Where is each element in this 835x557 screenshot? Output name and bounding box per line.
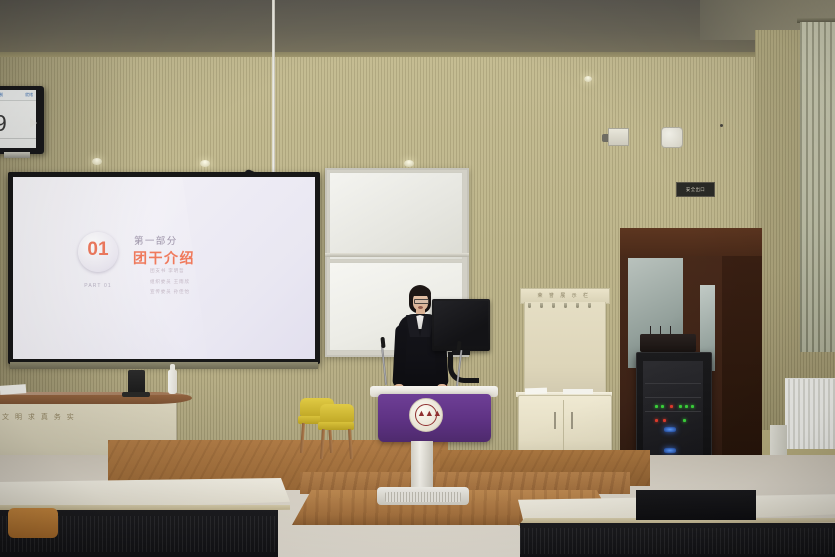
- slide-bullet: 组织委员 王雨欣: [150, 279, 190, 285]
- rack-led-green: [679, 405, 682, 408]
- rack-led-green: [661, 405, 664, 408]
- emblem-mark-icon: ▲▲▲: [417, 408, 433, 419]
- lecture-hall-photo: 01 PART 01 第一部分 团干介绍 团支书 李明哲 组织委员 王雨欣 宣传…: [0, 0, 835, 557]
- cabinet-door-seam: [563, 400, 564, 455]
- ceiling-spot-light: [584, 76, 592, 82]
- cabinet-papers: [525, 388, 547, 395]
- left-counter-top-highlight: [0, 392, 192, 395]
- podium-monitor-arm: [448, 352, 479, 383]
- counter-papers: [0, 384, 26, 395]
- slide-bullet-list: 团支书 李明哲 组织委员 王雨欣 宣传委员 孙佳怡: [150, 268, 190, 300]
- ceiling-spot-light: [404, 160, 414, 167]
- corner-display-value: 9: [0, 110, 7, 137]
- rack-led-red: [663, 419, 666, 422]
- exit-sign-label: 安全出口: [686, 187, 705, 193]
- cabinet-back-panel: [524, 302, 606, 395]
- front-chair[interactable]: [8, 508, 58, 538]
- exit-sign: 安全出口: [676, 182, 715, 197]
- rack-shelf: [645, 383, 701, 384]
- rack-blue-indicator: [664, 427, 676, 432]
- hanging-microphone-pole: [272, 0, 275, 196]
- radiator-valve-box: [770, 425, 787, 458]
- slide-subtitle: 第一部分: [134, 233, 178, 247]
- wall-fixing-dot: [720, 124, 723, 127]
- slide-bullet: 宣传委员 孙佳怡: [150, 289, 190, 295]
- podium-base-grille: [385, 492, 461, 502]
- ceiling-spot-light: [200, 160, 210, 167]
- slide-bullet: 团支书 李明哲: [150, 268, 190, 274]
- screen-bottom-trim: [10, 362, 318, 369]
- slide-title: 团干介绍: [133, 248, 195, 268]
- counter-slogan: 文 明 求 真 务 实: [2, 412, 122, 422]
- rack-led-green: [691, 405, 694, 408]
- cabinet-hook-row: [528, 303, 600, 309]
- cursor-arrow-icon: [30, 118, 37, 128]
- rack-shelf: [645, 397, 701, 398]
- corner-display-status-right: 就绪: [25, 92, 33, 98]
- back-row-equipment: [636, 490, 756, 520]
- front-desk-right-front: [520, 523, 835, 557]
- chair-back: [320, 404, 354, 422]
- wall-camera: [608, 128, 629, 146]
- rack-blue-indicator: [664, 448, 676, 453]
- counter-monitor-base: [122, 392, 150, 397]
- podium-column: [411, 441, 433, 489]
- cabinet-header-label: 荣 誉 展 示 栏: [524, 292, 604, 299]
- rack-led-green: [683, 419, 686, 422]
- ceiling-spot-light: [92, 158, 102, 165]
- corner-display-stand: [4, 152, 30, 158]
- door-dark-opening: [722, 256, 762, 478]
- rack-led-red: [655, 419, 658, 422]
- cabinet-handle-right[interactable]: [571, 412, 573, 429]
- rack-led-green: [685, 405, 688, 408]
- cabinet-handle-left[interactable]: [554, 412, 556, 429]
- sanitizer-bottle: [168, 370, 177, 394]
- presenter-fringe: [410, 287, 431, 296]
- slide-number: 01: [78, 239, 118, 261]
- corner-display-divider: [0, 138, 36, 139]
- rack-led-green: [655, 405, 658, 408]
- wall-radiator: [785, 378, 835, 449]
- door-header-beam: [620, 228, 762, 256]
- slide-part-label: PART 01: [70, 283, 126, 289]
- window-curtain: [800, 22, 835, 352]
- front-desk-right-vent: [520, 528, 835, 554]
- cabinet-papers: [563, 389, 593, 394]
- rack-shelf: [645, 411, 701, 412]
- rack-led-red: [670, 405, 673, 408]
- wall-speaker: [661, 127, 683, 148]
- corner-display-status-left: 控制: [0, 92, 3, 98]
- whiteboard-rail: [325, 253, 469, 257]
- whiteboard-upper-panel: [329, 172, 463, 260]
- glasses-icon: [414, 299, 429, 304]
- podium-monitor-screen[interactable]: [434, 301, 488, 346]
- corner-display-statusbar: 控制 就绪: [0, 90, 36, 101]
- rack-top-receiver: [640, 334, 696, 352]
